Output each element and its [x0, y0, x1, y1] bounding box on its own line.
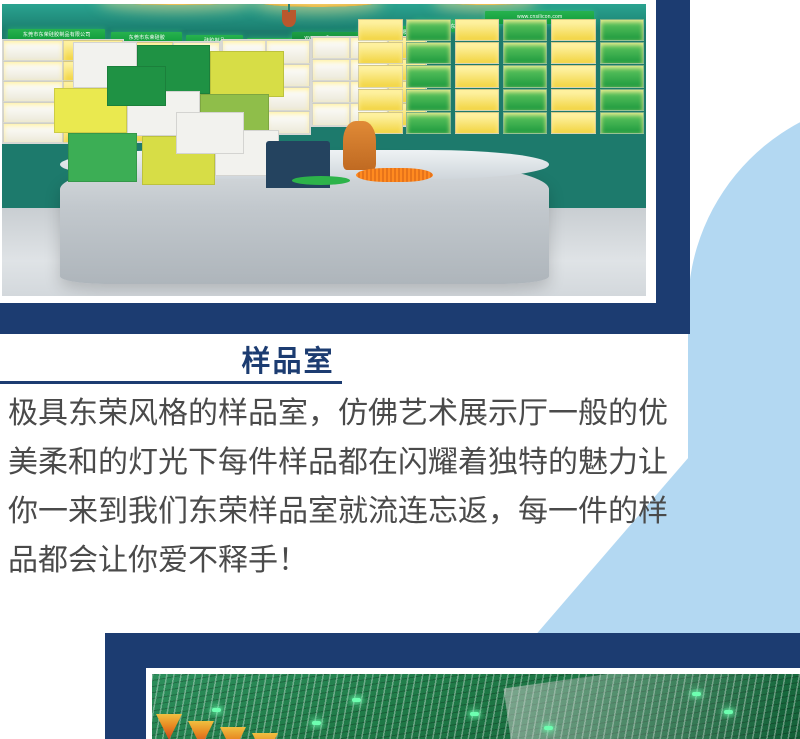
shelf-cell — [406, 112, 450, 134]
orange-product-sample — [356, 168, 433, 183]
showroom-photo: 东莞市东荣硅胶制品有限公司 东莞市东荣硅胶 硅胶制品 东荣硅胶 www.cnsi… — [2, 4, 646, 296]
factory-ceiling-photo — [152, 674, 800, 739]
section-body-text: 极具东荣风格的样品室，仿佛艺术展示厅一般的优 美柔和的灯光下每件样品都在闪耀着独… — [8, 389, 792, 585]
factory-ceiling-photo-frame — [146, 668, 800, 739]
showroom-photo-frame: 东莞市东荣硅胶制品有限公司 东莞市东荣硅胶 硅胶制品 东荣硅胶 www.cnsi… — [0, 0, 656, 300]
body-line: 美柔和的灯光下每件样品都在闪耀着独特的魅力让 — [8, 438, 792, 487]
shelf-cell — [455, 42, 499, 64]
display-cube — [210, 51, 283, 97]
shelf-cell — [503, 19, 547, 41]
navy-accent-bar-top — [0, 303, 690, 334]
shelf-cell — [503, 42, 547, 64]
page-root: 东莞市东荣硅胶制品有限公司 东莞市东荣硅胶 硅胶制品 东荣硅胶 www.cnsi… — [0, 0, 800, 739]
ceiling-light-icon — [724, 710, 733, 714]
shelf-cell — [358, 89, 402, 111]
shelf-cell — [600, 89, 644, 111]
body-line: 极具东荣风格的样品室，仿佛艺术展示厅一般的优 — [8, 389, 792, 438]
ceiling-light-icon — [470, 712, 479, 716]
body-line: 品都会让你爱不释手！ — [8, 536, 792, 585]
shelf-cell — [455, 112, 499, 134]
shelf-cell — [312, 59, 350, 81]
shelf-cell — [406, 89, 450, 111]
ceiling-light-icon — [352, 698, 361, 702]
body-line: 你一来到我们东荣样品室就流连忘返，每一件的样 — [8, 487, 792, 536]
shelf-cell — [551, 112, 595, 134]
navy-accent-bar-right — [656, 0, 690, 334]
shelf-cell — [551, 89, 595, 111]
shelf-cell — [406, 42, 450, 64]
shelf-column — [598, 19, 646, 136]
title-underline — [0, 381, 342, 384]
shelf-cell — [503, 65, 547, 87]
display-shelf-wall-right — [356, 19, 646, 136]
shelf-cell — [600, 19, 644, 41]
shelf-cell — [455, 65, 499, 87]
shelf-cell — [551, 65, 595, 87]
shelf-cell — [312, 81, 350, 103]
shelf-cell — [551, 19, 595, 41]
ceiling-light-icon — [544, 726, 553, 730]
shelf-column — [356, 19, 404, 136]
shelf-column — [501, 19, 549, 136]
display-cube — [107, 66, 166, 105]
shelf-cell — [600, 65, 644, 87]
shelf-column — [404, 19, 452, 136]
page-title: 样品室 — [0, 338, 576, 380]
shelf-column — [549, 19, 597, 136]
shelf-cell — [358, 19, 402, 41]
green-product-sample — [292, 176, 350, 185]
cube-display-unit — [54, 42, 299, 194]
display-cube — [68, 133, 137, 182]
shelf-cell — [600, 112, 644, 134]
shelf-column — [453, 19, 501, 136]
shelf-cell — [503, 112, 547, 134]
stool — [343, 121, 375, 171]
shelf-cell — [406, 65, 450, 87]
shelf-cell — [312, 103, 350, 125]
ceiling-light-icon — [212, 708, 221, 712]
bunting-flag-icon — [252, 733, 278, 739]
shelf-cell — [312, 37, 350, 59]
ceiling-light-icon — [312, 721, 321, 725]
shelf-cell — [455, 19, 499, 41]
shelf-cell — [503, 89, 547, 111]
shelf-cell — [551, 42, 595, 64]
ceiling-light-icon — [692, 692, 701, 696]
shelf-cell — [406, 19, 450, 41]
display-cube — [176, 112, 245, 155]
shelf-cell — [358, 42, 402, 64]
shelf-cell — [455, 89, 499, 111]
shelf-cell — [358, 65, 402, 87]
shelf-cell — [600, 42, 644, 64]
